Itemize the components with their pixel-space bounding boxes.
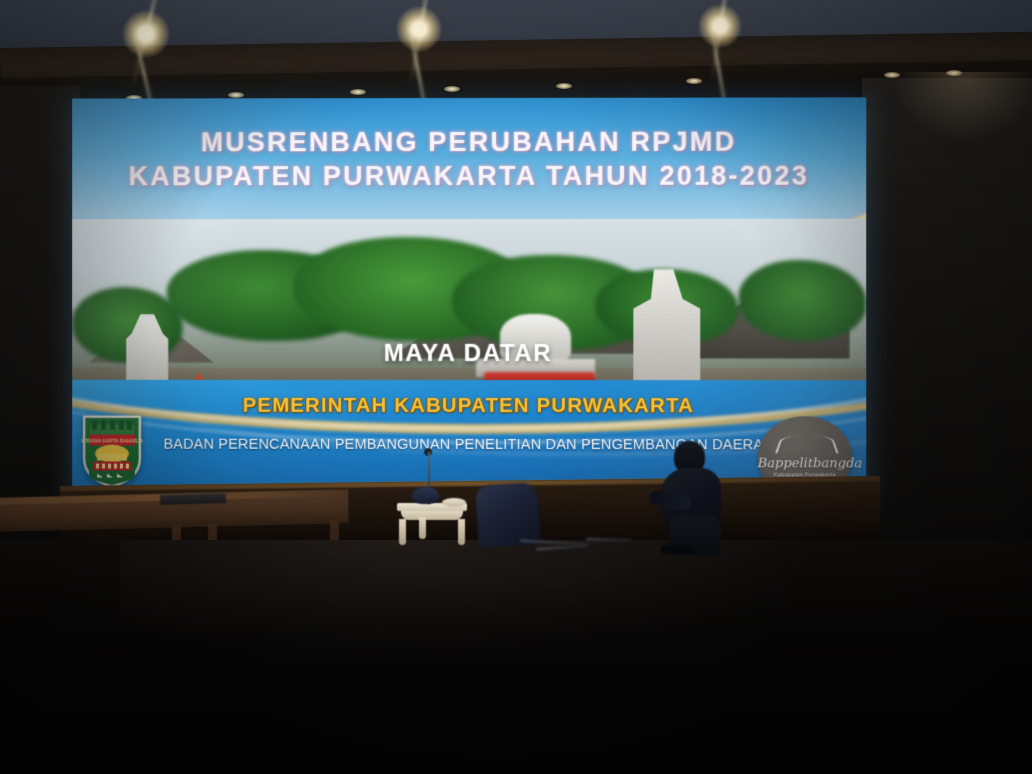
- ornate-side-table[interactable]: [397, 503, 467, 545]
- side-table-apron: [401, 511, 463, 520]
- ceiling-downlight: [228, 92, 244, 98]
- floor-light-sheen: [120, 540, 820, 660]
- svg-text:WIBAWA KARTA RAHARJA: WIBAWA KARTA RAHARJA: [81, 439, 143, 445]
- ceiling-downlight: [686, 78, 702, 84]
- person-shoe: [661, 545, 695, 554]
- led-screen-backdrop[interactable]: MUSRENBANG PERUBAHAN RPJMD KABUPATEN PUR…: [72, 97, 866, 501]
- banner-footer-white: BADAN PERENCANAAN PEMBANGUNAN PENELITIAN…: [72, 436, 866, 453]
- side-table-leg: [419, 517, 426, 539]
- right-wall: [862, 78, 1032, 558]
- conference-hall-scene: MUSRENBANG PERUBAHAN RPJMD KABUPATEN PUR…: [0, 0, 1032, 774]
- banner-center-caption: MAYA DATAR: [72, 340, 866, 368]
- banner-title-block: MUSRENBANG PERUBAHAN RPJMD KABUPATEN PUR…: [72, 126, 866, 195]
- dark-object-on-table[interactable]: [412, 487, 439, 504]
- crouching-person[interactable]: [651, 441, 733, 551]
- side-table-leg: [399, 519, 406, 545]
- bappelitbangda-script: Bappelitbangda: [758, 457, 852, 472]
- ceiling-downlight: [444, 86, 460, 92]
- ceiling-downlight: [556, 83, 572, 89]
- equipment-bag[interactable]: [475, 482, 541, 548]
- right-wall-light-glow: [890, 72, 1032, 142]
- light-object-on-table[interactable]: [442, 498, 466, 507]
- tree-foliage: [738, 259, 866, 340]
- side-table-leg: [458, 519, 465, 545]
- ceiling-downlight: [350, 89, 366, 95]
- purwakarta-crest-icon: WIBAWA KARTA RAHARJA: [81, 413, 143, 489]
- papers-on-table[interactable]: [160, 493, 226, 505]
- banner-footer-gold: PEMERINTAH KABUPATEN PURWAKARTA: [72, 394, 866, 419]
- banner-title-line-1: MUSRENBANG PERUBAHAN RPJMD: [72, 126, 866, 159]
- roof-peak-icon: [775, 436, 838, 454]
- banner-title-line-2: KABUPATEN PURWAKARTA TAHUN 2018-2023: [72, 158, 866, 195]
